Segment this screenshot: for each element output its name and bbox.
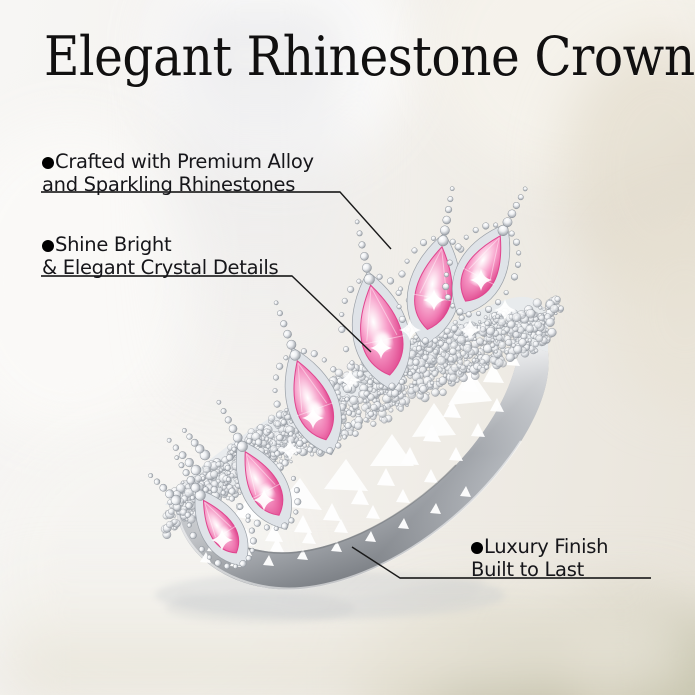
callout-quality-line-2: Built to Last — [471, 558, 608, 581]
callout-material-line-2: and Sparkling Rhinestones — [42, 173, 314, 196]
callout-shine-line-2: & Elegant Crystal Details — [42, 256, 278, 279]
callout-quality-line-1: Luxury Finish — [471, 535, 608, 558]
callout-shine: Shine Bright & Elegant Crystal Details — [42, 233, 278, 279]
bullet-icon — [471, 542, 483, 554]
callout-material: Crafted with Premium Alloy and Sparkling… — [42, 150, 314, 196]
callout-material-line-1: Crafted with Premium Alloy — [42, 150, 314, 173]
callout-shine-line-1: Shine Bright — [42, 233, 278, 256]
page-title: Elegant Rhinestone Crown — [44, 30, 695, 84]
bullet-icon — [42, 157, 54, 169]
product-image: Elegant Rhinestone Crown Crafted with Pr… — [0, 0, 695, 695]
leader-line-shine — [41, 276, 371, 352]
callout-leader-lines — [0, 0, 695, 695]
bullet-icon — [42, 240, 54, 252]
callout-quality: Luxury Finish Built to Last — [471, 535, 608, 581]
